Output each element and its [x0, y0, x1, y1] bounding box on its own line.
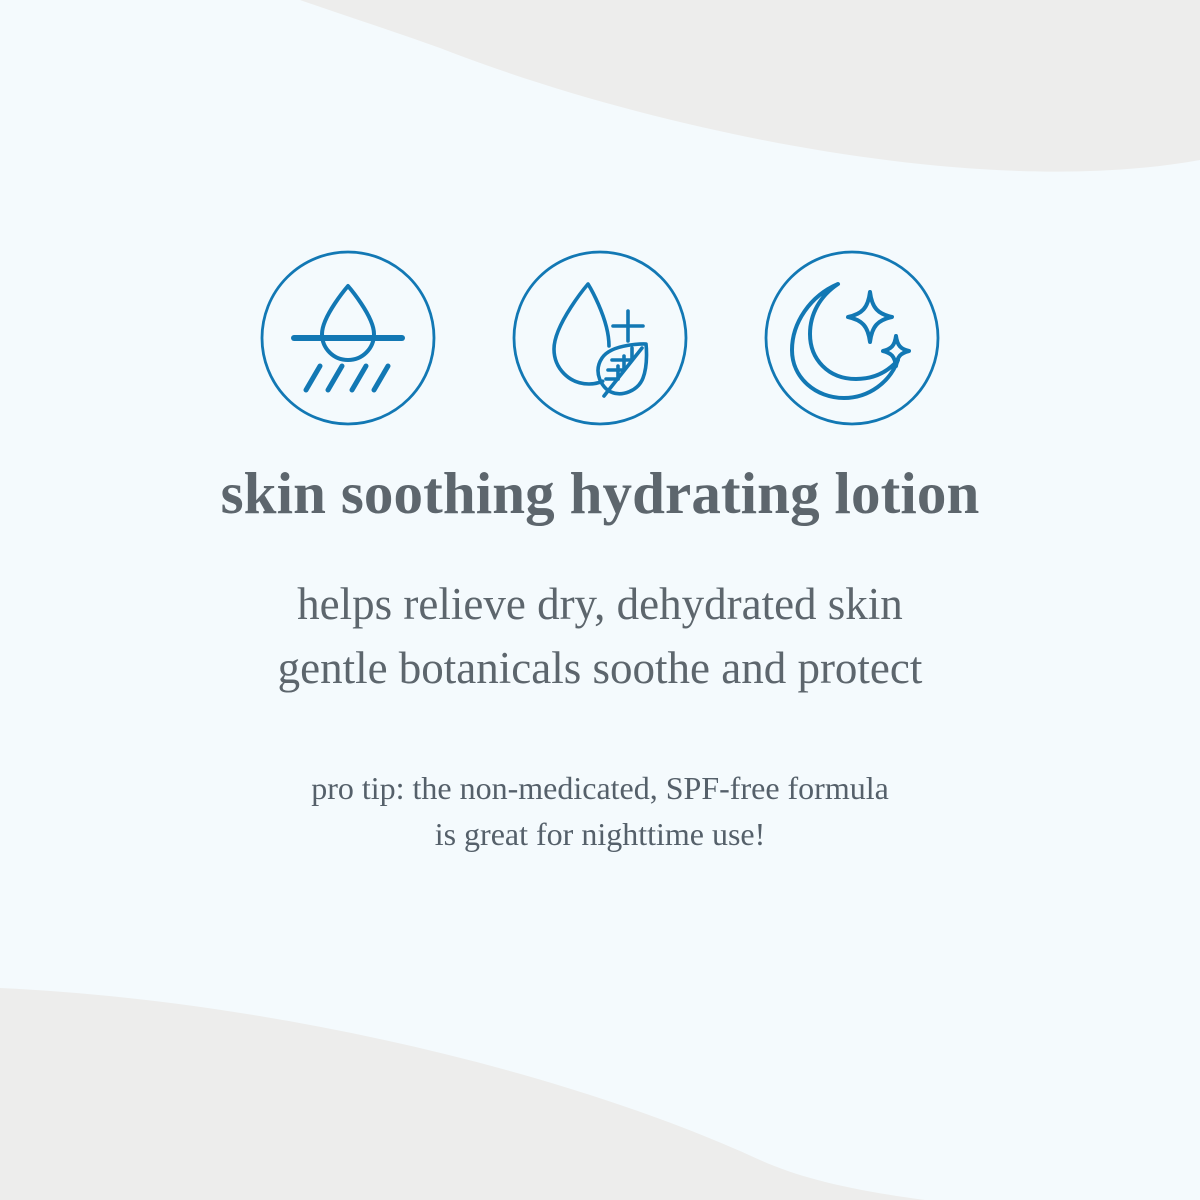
botanical-moisture-plus-icon: [510, 248, 690, 428]
night-moon-stars-icon: [762, 248, 942, 428]
pro-tip-block: pro tip: the non-medicated, SPF-free for…: [0, 766, 1200, 857]
feature-icon-row: [0, 248, 1200, 434]
pro-tip-line-1: pro tip: the non-medicated, SPF-free for…: [0, 766, 1200, 811]
product-feature-card: skin soothing hydrating lotion helps rel…: [0, 0, 1200, 1200]
hydration-barrier-icon: [258, 248, 438, 428]
benefit-list: helps relieve dry, dehydrated skin gentl…: [0, 572, 1200, 701]
benefit-line-2: gentle botanicals soothe and protect: [0, 636, 1200, 700]
text-block: skin soothing hydrating lotion helps rel…: [0, 462, 1200, 857]
benefit-line-1: helps relieve dry, dehydrated skin: [0, 572, 1200, 636]
pro-tip-line-2: is great for nighttime use!: [0, 812, 1200, 857]
page-title: skin soothing hydrating lotion: [0, 462, 1200, 526]
